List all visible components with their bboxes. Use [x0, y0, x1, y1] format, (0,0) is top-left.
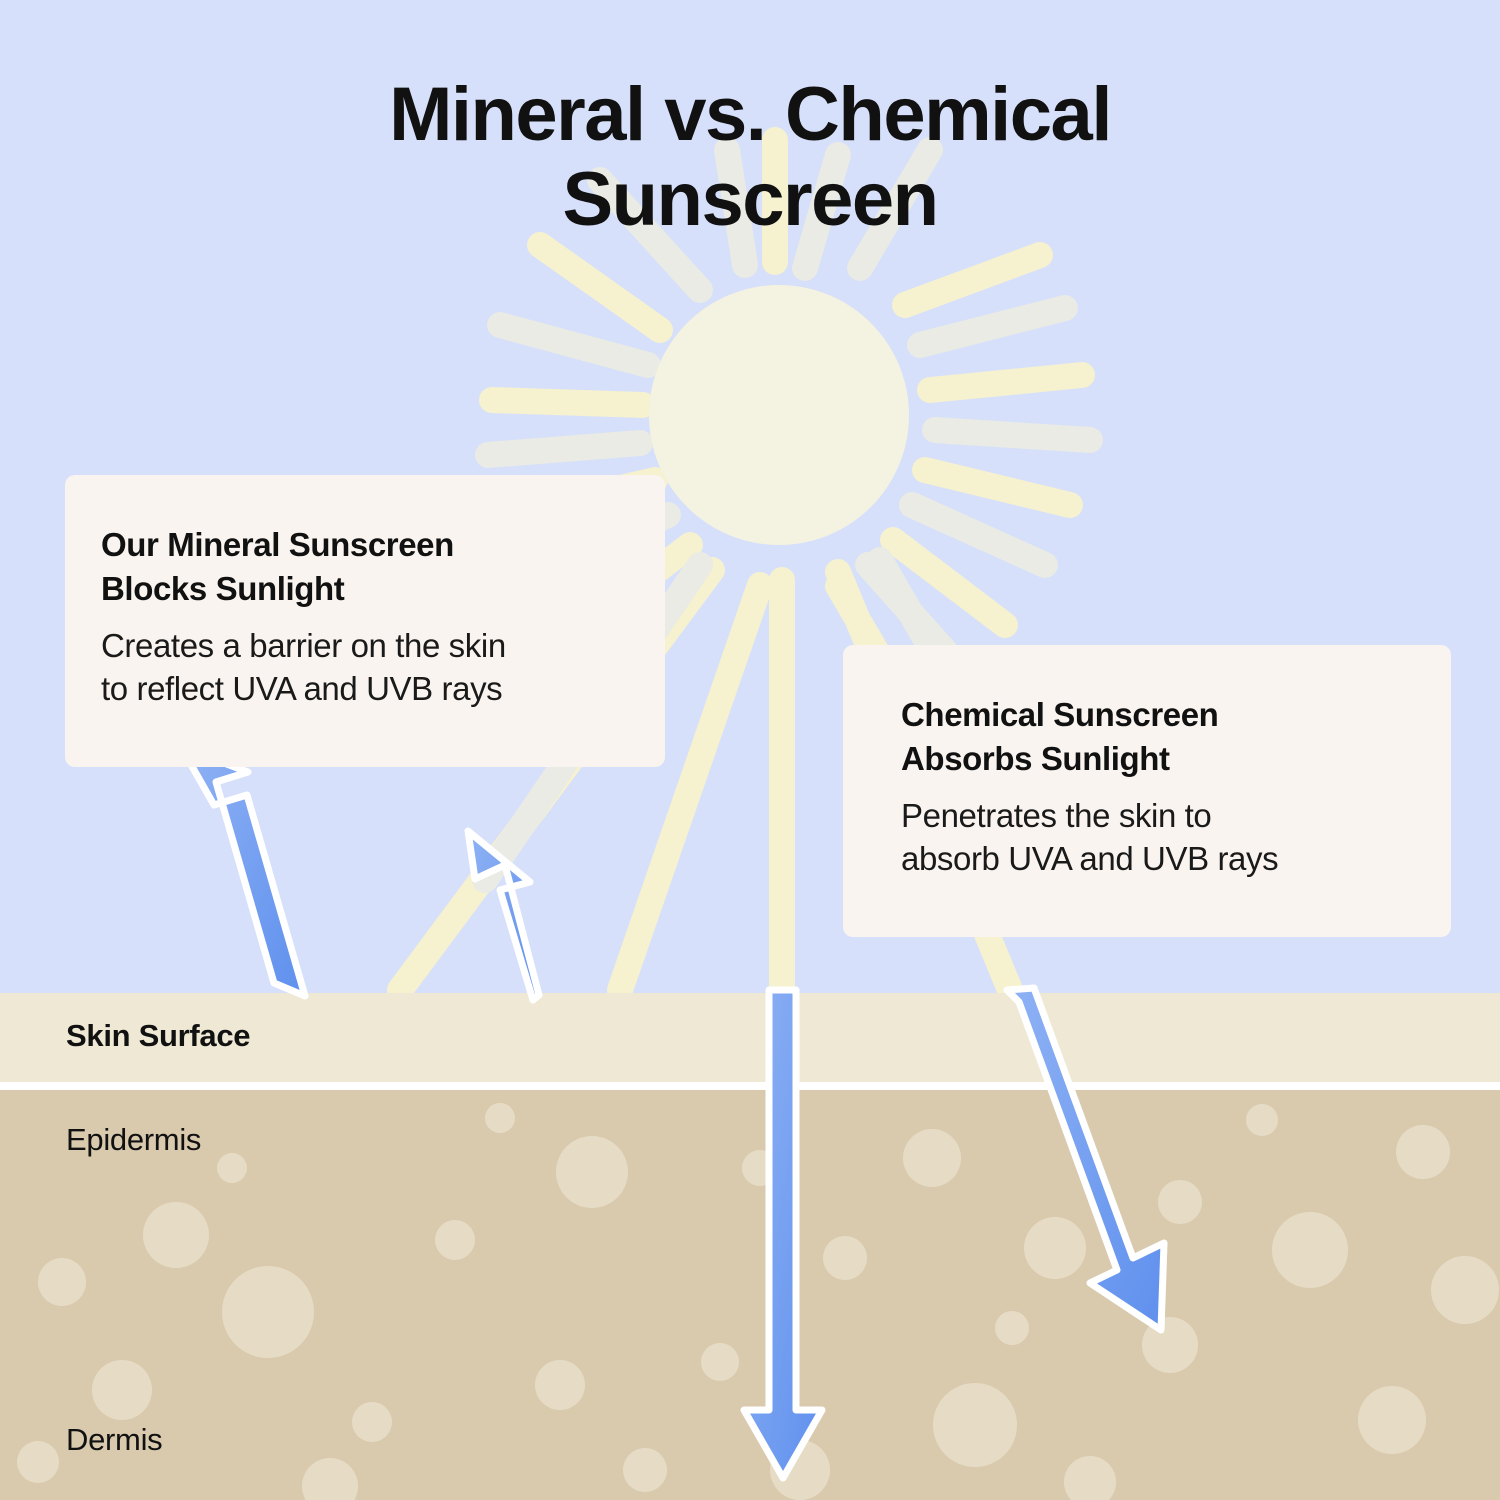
sun-icon [649, 285, 909, 545]
epidermis-label: Epidermis [66, 1122, 201, 1158]
skin-surface-divider [0, 1082, 1500, 1090]
infographic-canvas: Mineral vs. Chemical Sunscreen Our Miner… [0, 0, 1500, 1500]
dermis-label: Dermis [66, 1422, 162, 1458]
mineral-card-body: Creates a barrier on the skin to reflect… [101, 625, 623, 711]
mineral-sunscreen-card: Our Mineral Sunscreen Blocks Sunlight Cr… [65, 475, 665, 767]
chemical-card-body: Penetrates the skin to absorb UVA and UV… [901, 795, 1409, 881]
page-title: Mineral vs. Chemical Sunscreen [0, 72, 1500, 242]
skin-tissue [0, 1090, 1500, 1500]
mineral-card-heading: Our Mineral Sunscreen Blocks Sunlight [101, 523, 623, 611]
chemical-sunscreen-card: Chemical Sunscreen Absorbs Sunlight Pene… [843, 645, 1451, 937]
chemical-card-heading: Chemical Sunscreen Absorbs Sunlight [901, 693, 1409, 781]
skin-surface-label: Skin Surface [66, 1018, 250, 1054]
